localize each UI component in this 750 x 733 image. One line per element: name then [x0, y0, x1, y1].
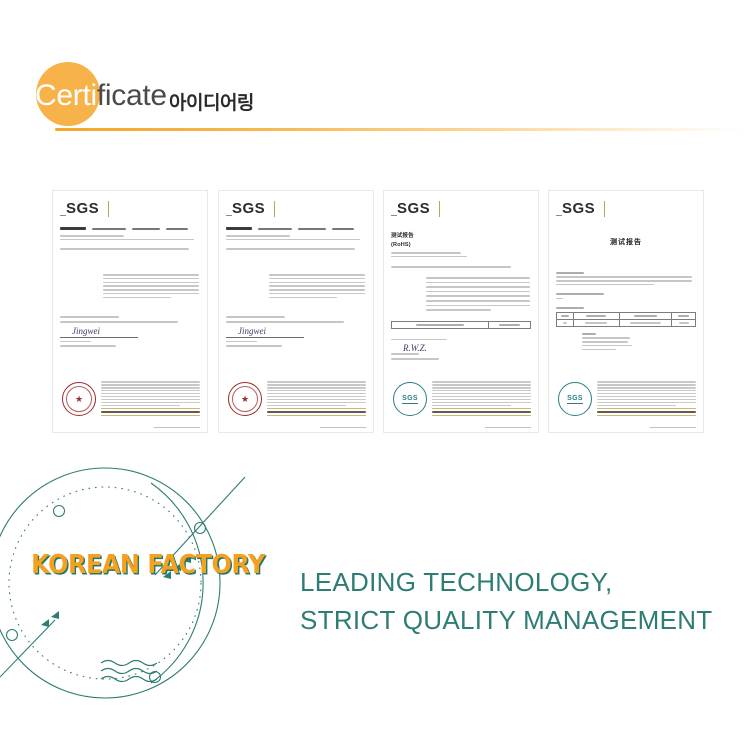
cert-footer: [101, 381, 200, 418]
cert-footer: [432, 381, 531, 418]
ring-dot-top-right: [195, 523, 206, 534]
outer-circle: [0, 468, 220, 698]
page-header: Certificate 아이디어링: [0, 0, 750, 150]
page-title-part-dark: ficate: [97, 79, 167, 112]
cert-spec-section: [556, 293, 696, 299]
korean-factory-badge: KOREAN FACTORY: [28, 550, 267, 580]
right-arc: [151, 483, 203, 683]
bottom-banner: KOREAN FACTORY LEADING TECHNOLOGY, STRIC…: [0, 455, 750, 733]
cert-doc-subtitle: (RoHS): [391, 242, 531, 248]
sgs-logo: SGS: [60, 199, 200, 221]
cert-intro: [391, 266, 531, 268]
cert-footer: [597, 381, 696, 418]
header-divider: [55, 128, 745, 131]
cert-result-table: [391, 321, 531, 329]
cert-title-row: [60, 227, 200, 230]
cert-footer-tag: [154, 427, 200, 428]
cert-statement: [556, 272, 696, 285]
sgs-wordmark: SGS: [391, 199, 430, 219]
sgs-wordmark: SGS: [60, 199, 99, 219]
dashed-circle: [9, 487, 201, 679]
signature-script: Jingwei: [226, 326, 366, 336]
cert-intro: [226, 248, 366, 250]
cert-signature-block: Jingwei: [226, 316, 366, 346]
seal-sgs-text: SGS: [567, 395, 583, 402]
cert-conclusion: [60, 274, 200, 300]
tagline-line-1: LEADING TECHNOLOGY,: [300, 567, 613, 597]
cert-title-row: [226, 227, 366, 230]
page-title-part-white: Certi: [35, 79, 97, 112]
certificate-thumbnail-4[interactable]: SGS 测试报告: [548, 190, 704, 433]
cert-client-block: [60, 235, 200, 240]
cert-doc-title: 测试报告: [556, 237, 696, 247]
table-row: [392, 321, 531, 328]
cert-doc-title: 测试报告: [391, 231, 531, 239]
cert-footer-tag: [320, 427, 366, 428]
sgs-wordmark: SGS: [556, 199, 595, 219]
tagline: LEADING TECHNOLOGY, STRICT QUALITY MANAG…: [300, 563, 730, 639]
ring-dot-top-left: [54, 506, 65, 517]
certificate-thumbnail-1[interactable]: SGS: [52, 190, 208, 433]
certificate-thumbnail-3[interactable]: SGS 测试报告 (RoHS): [383, 190, 539, 433]
cert-footer-tag: [485, 427, 531, 428]
green-sgs-seal: SGS: [393, 382, 427, 416]
seal-sgs-text: SGS: [402, 395, 418, 402]
table-header-row: [557, 313, 696, 320]
certificate-thumbnail-2[interactable]: SGS: [218, 190, 374, 433]
star-icon: ★: [241, 395, 249, 404]
red-star-seal: ★: [62, 382, 96, 416]
sgs-logo: SGS: [556, 199, 696, 221]
cert-meta-fields: [556, 252, 696, 258]
signature-script: Jingwei: [60, 326, 200, 336]
cert-signature-block: R.W.Z.: [391, 339, 531, 360]
cert-result-table: [556, 312, 696, 327]
cert-client-block: [226, 235, 366, 240]
cert-client-block: [391, 252, 531, 257]
cert-intro: [60, 248, 200, 250]
cert-conclusion: [226, 274, 366, 300]
cert-notes: [556, 333, 696, 350]
korean-factory-graphic: [0, 455, 295, 733]
cert-fields: [60, 256, 200, 271]
cert-results-section: [556, 307, 696, 327]
sgs-logo: SGS: [391, 199, 531, 221]
page-subtitle: 아이디어링: [169, 88, 254, 115]
cert-fields: [226, 256, 366, 271]
cert-footer-tag: [650, 427, 696, 428]
red-star-seal: ★: [228, 382, 262, 416]
page-title: Certificate: [35, 81, 167, 111]
sgs-logo: SGS: [226, 199, 366, 221]
certificate-gallery: SGS: [0, 190, 750, 440]
sgs-wordmark: SGS: [226, 199, 265, 219]
cert-fields: [391, 274, 531, 318]
ring-dot-left: [7, 630, 18, 641]
cert-footer: [267, 381, 366, 418]
certificate-page: Certificate 아이디어링 SGS: [0, 0, 750, 733]
cert-title-row: 测试报告 (RoHS): [391, 231, 531, 248]
star-icon: ★: [75, 395, 83, 404]
green-sgs-seal: SGS: [558, 382, 592, 416]
tagline-line-2: STRICT QUALITY MANAGEMENT: [300, 601, 730, 639]
signature-script: R.W.Z.: [391, 343, 531, 353]
cert-signature-block: Jingwei: [60, 316, 200, 346]
table-row: [557, 320, 696, 327]
diagonal-line-bottom: [0, 620, 55, 705]
